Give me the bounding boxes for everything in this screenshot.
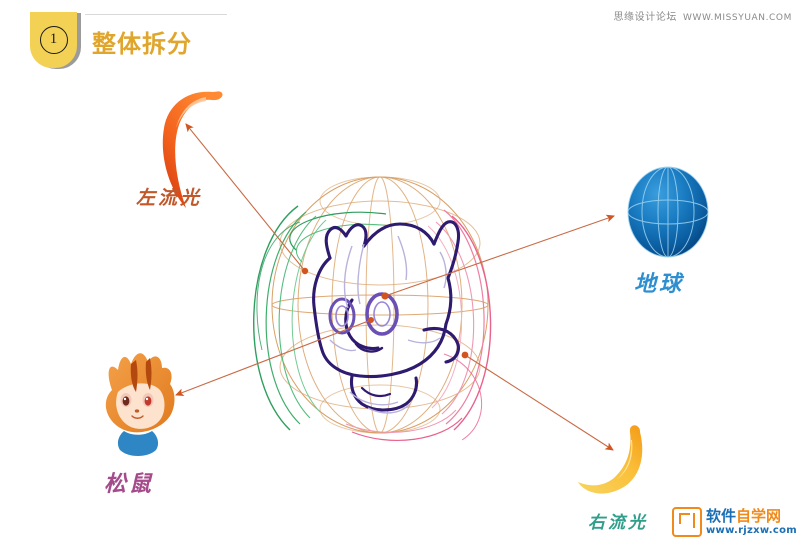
- right-light-crescent: [578, 425, 642, 493]
- brand-name-orange: 自学网: [736, 507, 781, 525]
- brand-text: 软件自学网 www.rjzxw.com: [706, 509, 797, 536]
- arrow-to-right-light: [465, 355, 613, 450]
- rj-logo-icon: [672, 507, 702, 537]
- slide-canvas: 1 整体拆分 思缘设计论坛WWW.MISSYUAN.COM: [0, 0, 800, 545]
- label-left-light: 左流光: [136, 183, 202, 210]
- squirrel-mascot: [106, 353, 175, 456]
- brand-logo[interactable]: 软件自学网 www.rjzxw.com: [672, 505, 797, 539]
- arrow-connectors: [176, 124, 614, 450]
- label-earth: 地球: [634, 266, 684, 298]
- brand-url: www.rjzxw.com: [706, 526, 797, 536]
- brand-name-blue: 软件: [706, 507, 736, 525]
- label-right-light: 右流光: [588, 508, 648, 533]
- arrow-to-left-light: [186, 124, 305, 271]
- earth-globe: [628, 167, 708, 257]
- brand-name: 软件自学网: [706, 509, 797, 524]
- wireframe-globe: [254, 177, 491, 440]
- label-squirrel: 松鼠: [104, 466, 154, 498]
